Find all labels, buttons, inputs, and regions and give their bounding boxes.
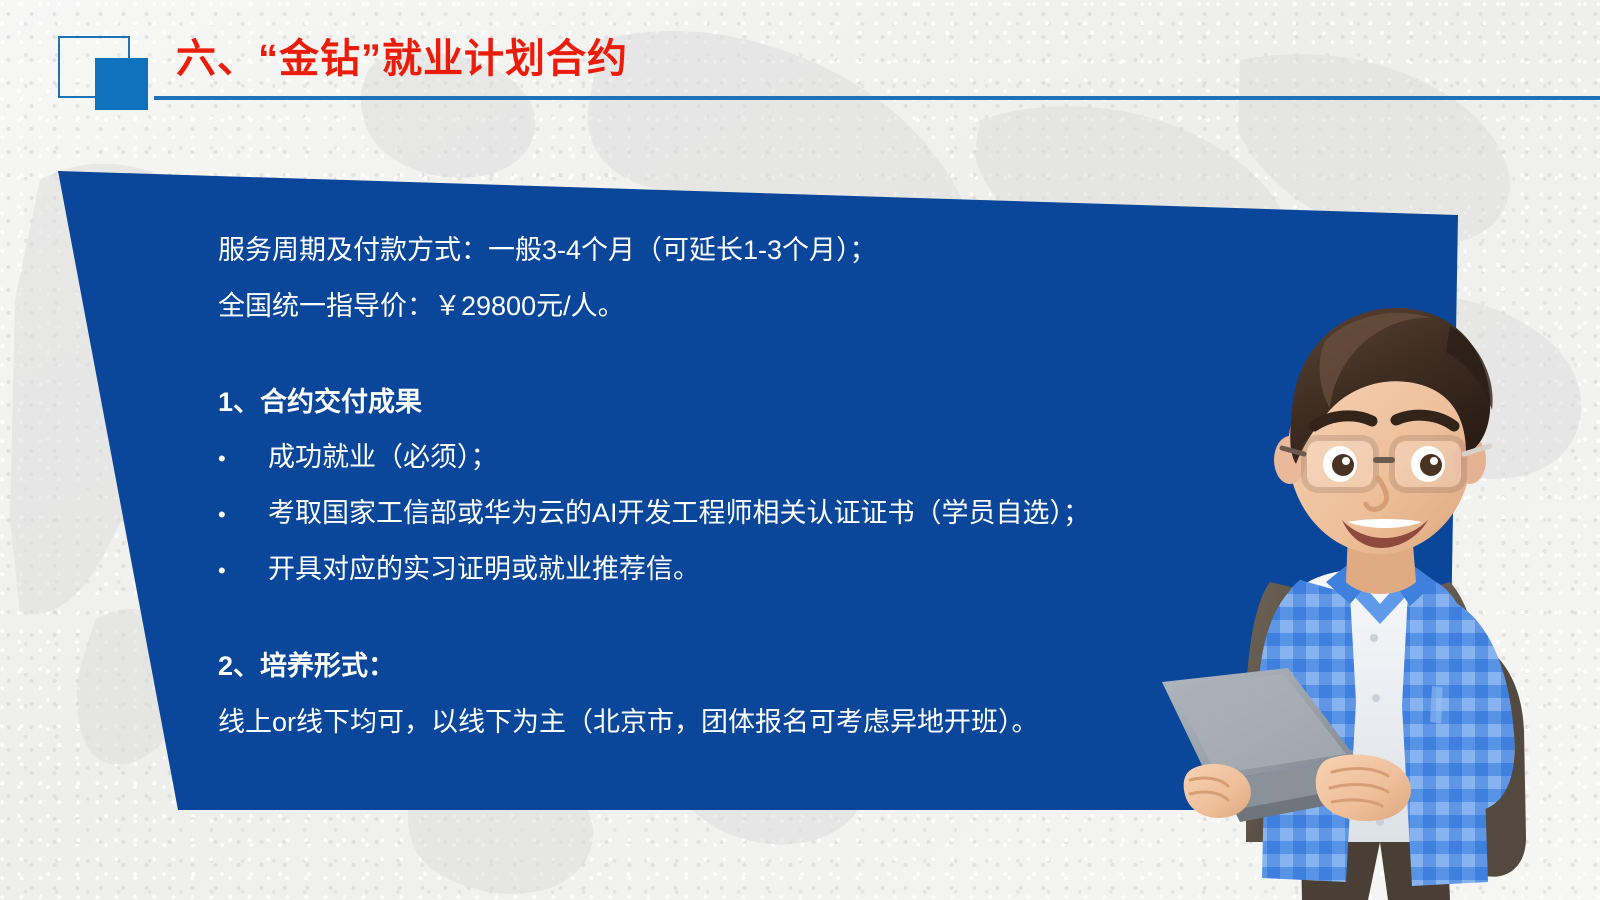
list-item-label: 开具对应的实习证明或就业推荐信。 <box>268 542 700 596</box>
intro-line-2: 全国统一指导价：￥29800元/人。 <box>218 278 1238 334</box>
student-with-laptop-illustration <box>1150 282 1570 900</box>
bullet-dot-icon: • <box>218 432 268 486</box>
bullet-dot-icon: • <box>218 488 268 542</box>
section-1-heading: 1、合约交付成果 <box>218 374 1238 430</box>
section-2-body: 线上or线下均可，以线下为主（北京市，团体报名可考虑异地开班）。 <box>218 694 1238 750</box>
bullet-dot-icon: • <box>218 544 268 598</box>
slide-root: 六、“金钻”就业计划合约 服务周期及付款方式：一般3-4个月（可延长1-3个月）… <box>0 0 1600 900</box>
spacer <box>218 334 1238 374</box>
panel-text-block: 服务周期及付款方式：一般3-4个月（可延长1-3个月）； 全国统一指导价：￥29… <box>218 222 1238 750</box>
list-item-label: 成功就业（必须）； <box>268 430 498 484</box>
title-underline-rule <box>154 96 1600 100</box>
spacer <box>218 598 1238 638</box>
list-item-label: 考取国家工信部或华为云的AI开发工程师相关认证证书（学员自选）； <box>268 486 1090 540</box>
list-item: • 成功就业（必须）； <box>218 430 1238 486</box>
list-item: • 考取国家工信部或华为云的AI开发工程师相关认证证书（学员自选）； <box>218 486 1238 542</box>
square-filled-icon <box>95 58 148 110</box>
list-item: • 开具对应的实习证明或就业推荐信。 <box>218 542 1238 598</box>
title-decoration <box>58 36 154 110</box>
section-2-heading: 2、培养形式： <box>218 638 1238 694</box>
intro-line-1: 服务周期及付款方式：一般3-4个月（可延长1-3个月）； <box>218 222 1238 278</box>
page-title: 六、“金钻”就业计划合约 <box>176 36 628 82</box>
